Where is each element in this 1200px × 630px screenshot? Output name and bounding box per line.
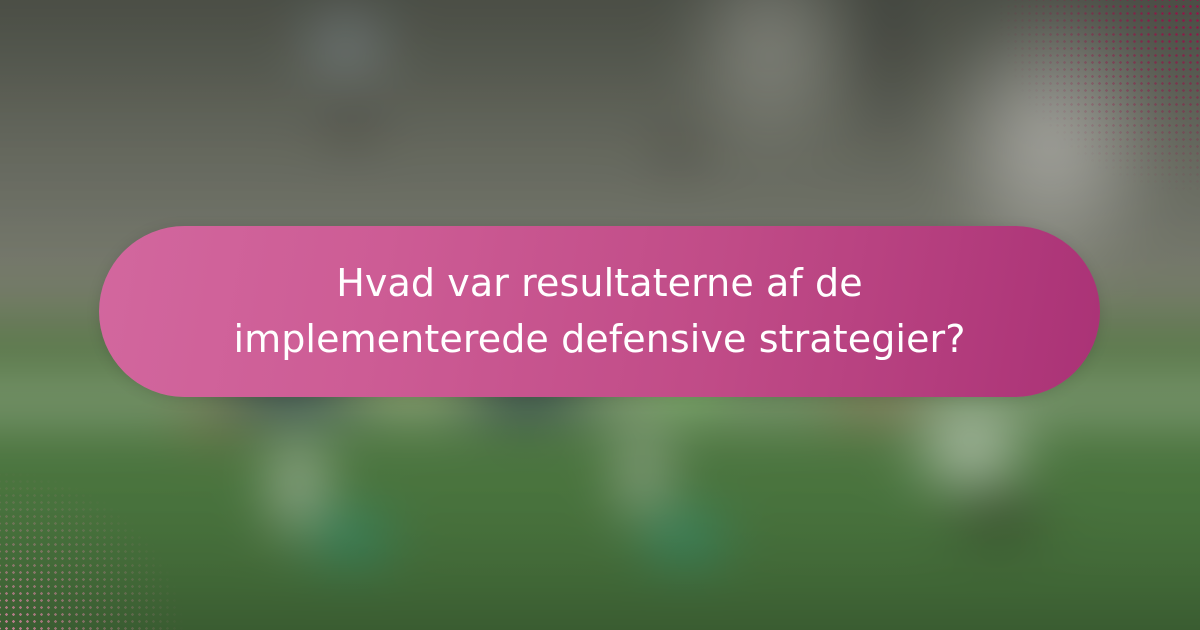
quote-card: Hvad var resultaterne af de implementere… — [0, 0, 1200, 630]
question-text: Hvad var resultaterne af de implementere… — [99, 256, 1100, 366]
question-banner: Hvad var resultaterne af de implementere… — [99, 226, 1100, 397]
